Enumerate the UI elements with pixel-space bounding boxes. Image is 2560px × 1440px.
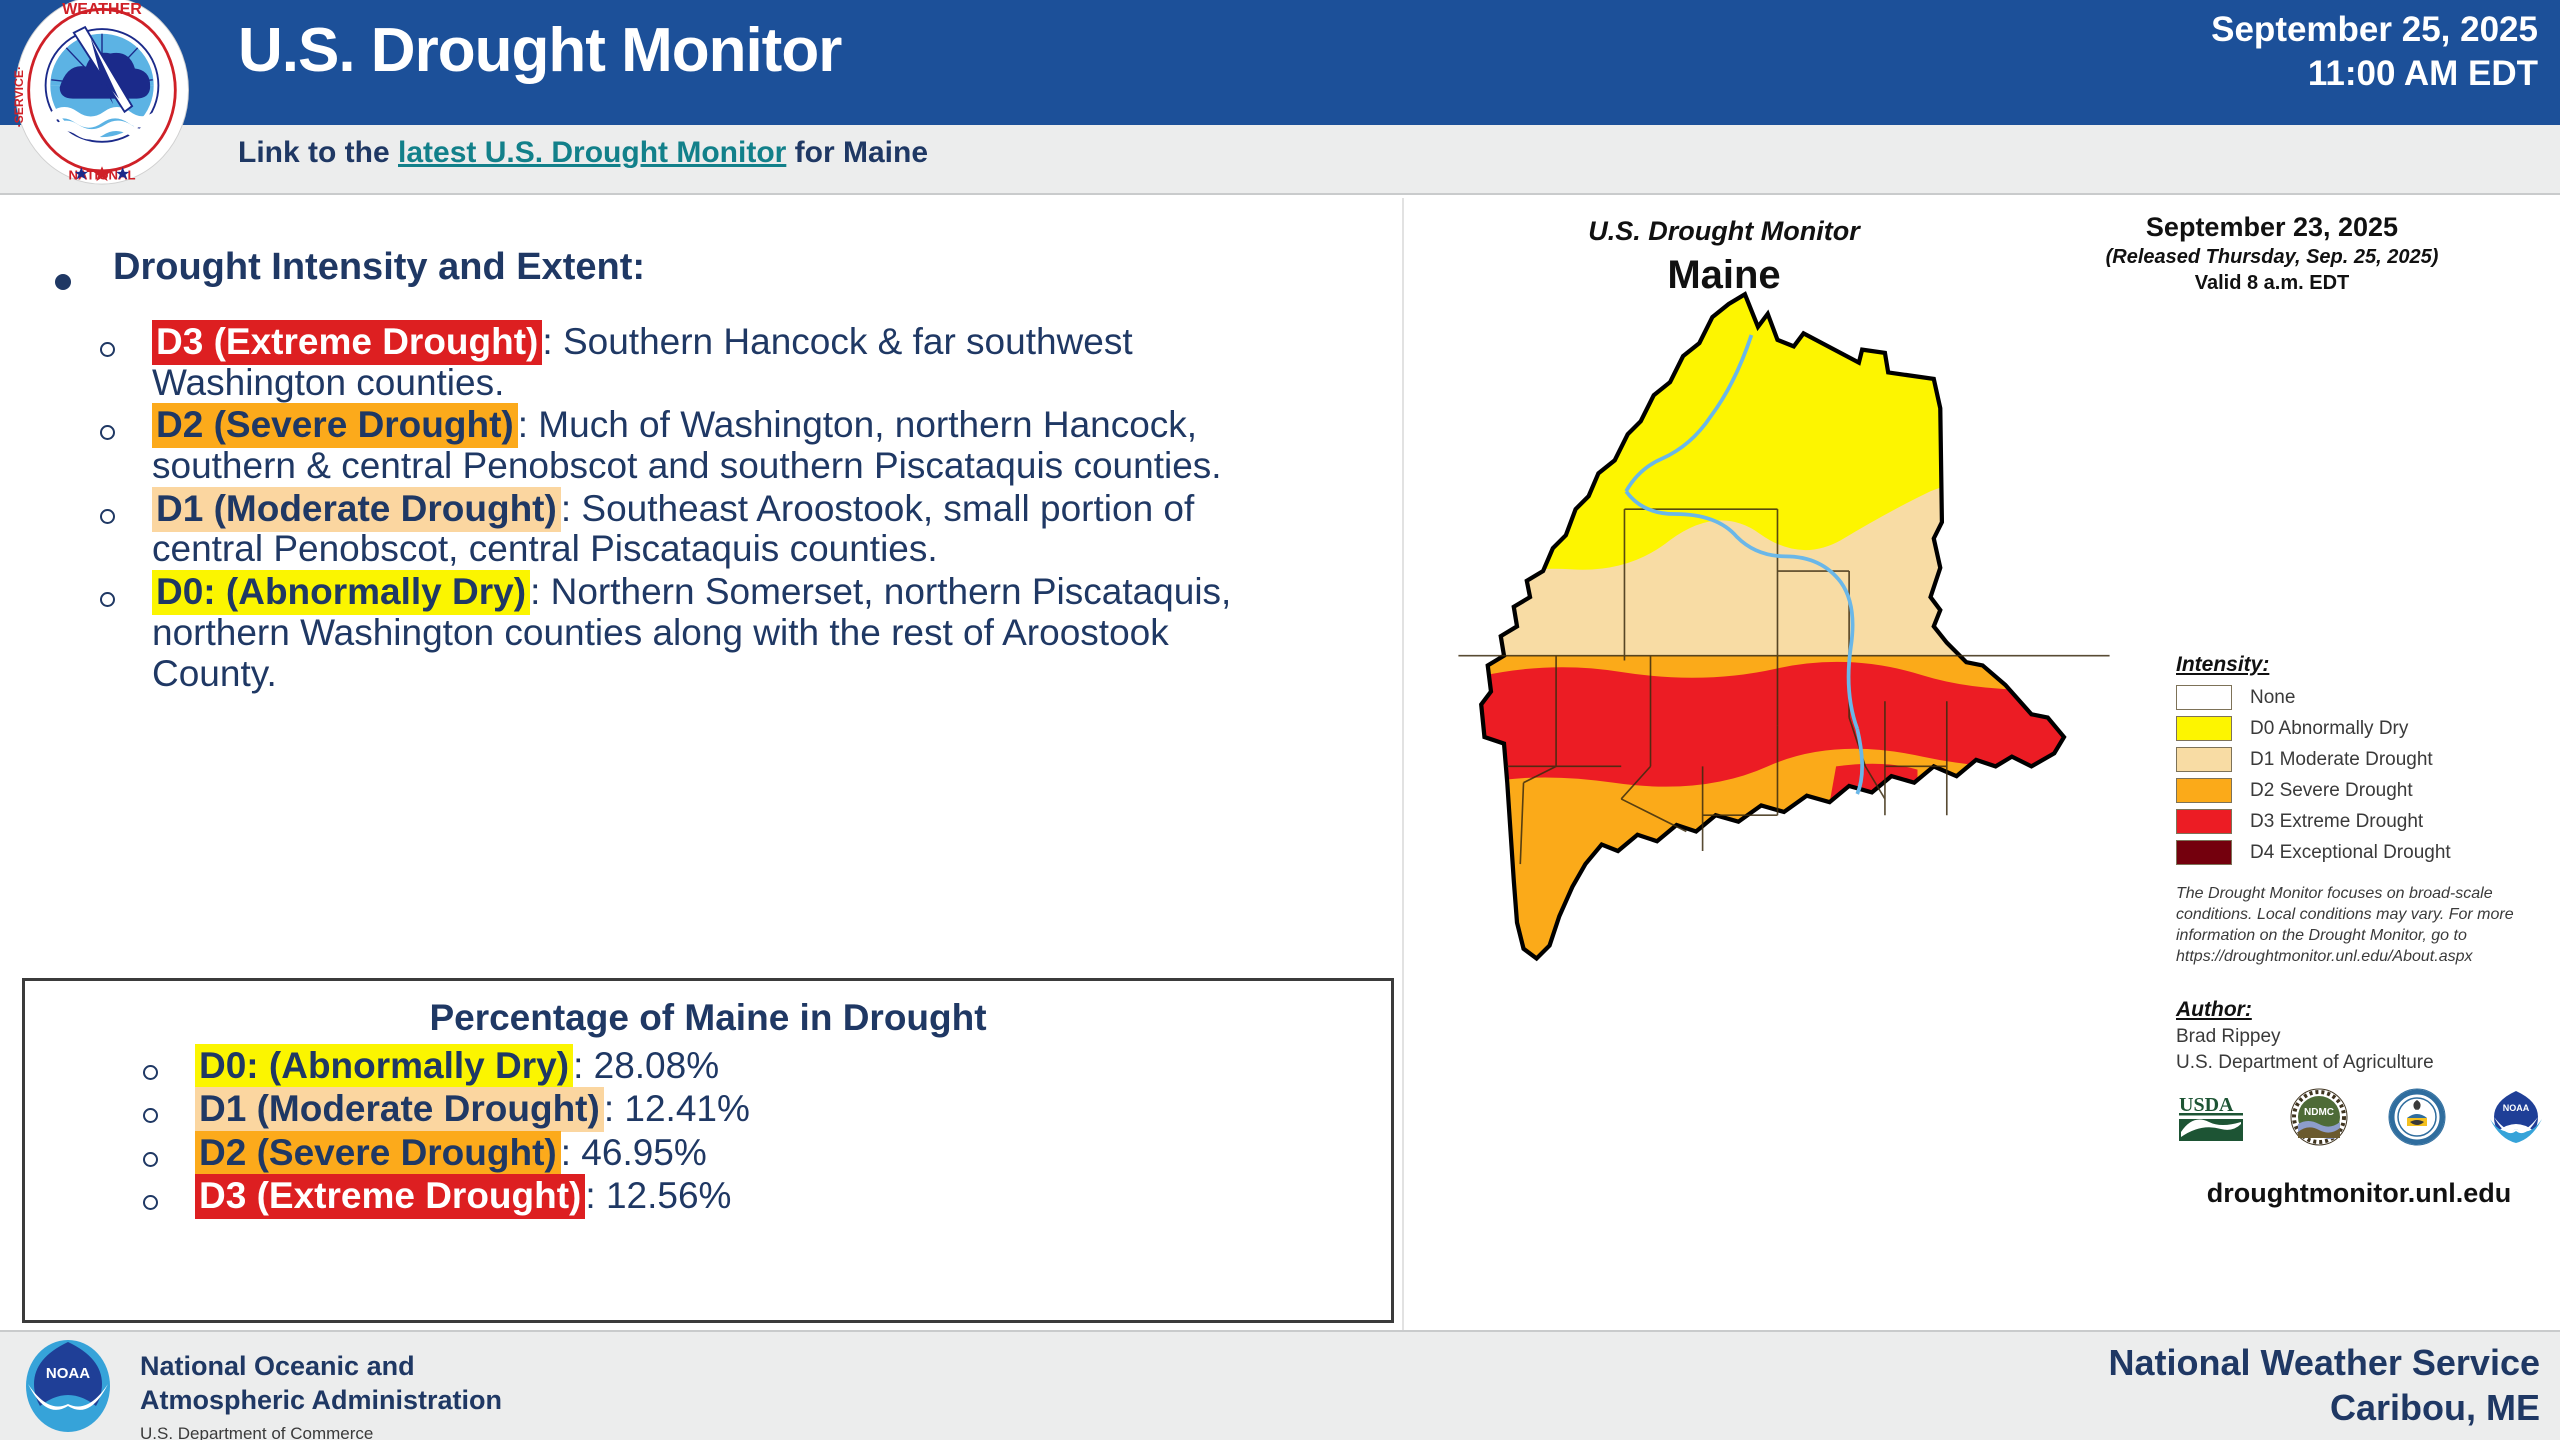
percentage-box: Percentage of Maine in Drought D0: (Abno… (22, 978, 1394, 1323)
section-heading-row: Drought Intensity and Extent: (55, 246, 1400, 296)
bullet-hollow-icon (143, 1108, 167, 1128)
legend-swatch-d2 (2176, 778, 2232, 803)
legend-item-none: None (2176, 685, 2536, 710)
link-prefix-text: Link to the (238, 136, 398, 169)
list-item-text: D3 (Extreme Drought): Southern Hancock &… (152, 322, 1282, 403)
list-item-text: D1 (Moderate Drought): Southeast Aroosto… (152, 489, 1282, 570)
legend-label-d2: D2 Severe Drought (2250, 780, 2413, 802)
svg-text:WEATHER: WEATHER (62, 1, 142, 18)
bullet-hollow-icon (143, 1065, 167, 1085)
map-kicker: U.S. Drought Monitor (1464, 216, 1984, 247)
percentage-list: D0: (Abnormally Dry): 28.08% D1 (Moderat… (143, 1045, 1391, 1217)
bullet-hollow-icon (143, 1195, 167, 1215)
noaa-line-2: Atmospheric Administration (140, 1384, 502, 1418)
author-organization: U.S. Department of Agriculture (2176, 1052, 2536, 1074)
drought-monitor-link-line: Link to the latest U.S. Drought Monitor … (238, 136, 928, 170)
office-line-1: National Weather Service (2108, 1340, 2540, 1385)
maine-drought-map (1424, 278, 2144, 978)
d0-badge: D0: (Abnormally Dry) (152, 570, 530, 615)
legend-label-d0: D0 Abnormally Dry (2250, 718, 2408, 740)
latest-drought-monitor-link[interactable]: latest U.S. Drought Monitor (398, 136, 786, 169)
section-title: Drought Intensity and Extent: (113, 246, 645, 289)
link-suffix-text: for Maine (786, 136, 928, 169)
d1-pct-badge: D1 (Moderate Drought) (195, 1087, 604, 1132)
bullet-hollow-icon (100, 592, 124, 612)
noaa-logo: NOAA (18, 1338, 118, 1434)
bullet-hollow-icon (100, 425, 124, 445)
svg-text:USDA: USDA (2179, 1094, 2234, 1116)
ndmc-logo: NDMC (2290, 1088, 2348, 1146)
map-valid-date: September 23, 2025 (2022, 212, 2522, 243)
bullet-hollow-icon (100, 509, 124, 529)
legend-swatch-d4 (2176, 840, 2232, 865)
nws-roundel-logo: WEATHER NATIONAL ·SERVICE· (8, 0, 196, 192)
percentage-row-text: D2 (Severe Drought): 46.95% (195, 1132, 707, 1173)
slide-page: U.S. Drought Monitor September 25, 2025 … (0, 0, 2560, 1440)
noaa-line-3: U.S. Department of Commerce (140, 1424, 502, 1440)
header-date: September 25, 2025 (2211, 8, 2538, 52)
d0-pct-value: : 28.08% (573, 1045, 719, 1086)
svg-text:·SERVICE·: ·SERVICE· (12, 66, 26, 128)
list-item: D1 (Moderate Drought): Southeast Aroosto… (100, 489, 1400, 570)
author-title: Author: (2176, 998, 2536, 1022)
d3-pct-value: : 12.56% (585, 1175, 731, 1216)
noaa-agency-text: National Oceanic and Atmospheric Adminis… (140, 1350, 502, 1440)
legend-label-d1: D1 Moderate Drought (2250, 749, 2433, 771)
percentage-row-text: D3 (Extreme Drought): 12.56% (195, 1175, 731, 1216)
d3-pct-badge: D3 (Extreme Drought) (195, 1174, 585, 1219)
table-row: D1 (Moderate Drought): 12.41% (143, 1088, 1391, 1129)
drought-monitor-url: droughtmonitor.unl.edu (2164, 1178, 2554, 1209)
drought-monitor-panel: U.S. Drought Monitor Maine September 23,… (1402, 198, 2560, 1330)
author-block: Author: Brad Rippey U.S. Department of A… (2176, 998, 2536, 1074)
table-row: D3 (Extreme Drought): 12.56% (143, 1175, 1391, 1216)
office-line-2: Caribou, ME (2108, 1385, 2540, 1430)
d3-badge: D3 (Extreme Drought) (152, 320, 542, 365)
legend-swatch-d0 (2176, 716, 2232, 741)
drought-items-list: D3 (Extreme Drought): Southern Hancock &… (100, 322, 1400, 694)
header-datetime: September 25, 2025 11:00 AM EDT (2211, 8, 2538, 96)
list-item: D2 (Severe Drought): Much of Washington,… (100, 405, 1400, 486)
d2-badge: D2 (Severe Drought) (152, 403, 518, 448)
table-row: D2 (Severe Drought): 46.95% (143, 1132, 1391, 1173)
header-time: 11:00 AM EDT (2211, 52, 2538, 96)
page-title: U.S. Drought Monitor (238, 20, 841, 82)
noaa-line-1: National Oceanic and (140, 1350, 502, 1384)
legend-swatch-d3 (2176, 809, 2232, 834)
legend-item-d4: D4 Exceptional Drought (2176, 840, 2536, 865)
legend-label-none: None (2250, 687, 2295, 709)
legend-swatch-d1 (2176, 747, 2232, 772)
list-item-text: D2 (Severe Drought): Much of Washington,… (152, 405, 1282, 486)
list-item: D0: (Abnormally Dry): Northern Somerset,… (100, 572, 1400, 694)
percentage-row-text: D1 (Moderate Drought): 12.41% (195, 1088, 750, 1129)
d2-pct-badge: D2 (Severe Drought) (195, 1131, 561, 1176)
legend-label-d4: D4 Exceptional Drought (2250, 842, 2451, 864)
table-row: D0: (Abnormally Dry): 28.08% (143, 1045, 1391, 1086)
footer-bar: NOAA National Oceanic and Atmospheric Ad… (0, 1330, 2560, 1440)
legend-title: Intensity: (2176, 653, 2536, 677)
legend-swatch-none (2176, 685, 2232, 710)
bullet-hollow-icon (100, 342, 124, 362)
usda-seal-logo (2388, 1088, 2446, 1146)
map-release-date: (Released Thursday, Sep. 25, 2025) (2022, 246, 2522, 269)
d0-pct-badge: D0: (Abnormally Dry) (195, 1044, 573, 1089)
intensity-legend: Intensity: None D0 Abnormally Dry D1 Mod… (2176, 653, 2536, 871)
noaa-logo: NOAA (2486, 1089, 2546, 1145)
agency-logos-row: USDA NDMC (2176, 1088, 2546, 1146)
list-item-text: D0: (Abnormally Dry): Northern Somerset,… (152, 572, 1282, 694)
legend-item-d1: D1 Moderate Drought (2176, 747, 2536, 772)
svg-text:NDMC: NDMC (2304, 1107, 2334, 1118)
map-disclaimer: The Drought Monitor focuses on broad-sca… (2176, 883, 2536, 967)
legend-item-d0: D0 Abnormally Dry (2176, 716, 2536, 741)
maine-map-svg (1424, 278, 2144, 978)
weather-office-text: National Weather Service Caribou, ME (2108, 1340, 2540, 1430)
percentage-row-text: D0: (Abnormally Dry): 28.08% (195, 1045, 719, 1086)
percentage-box-title: Percentage of Maine in Drought (25, 997, 1391, 1039)
bullet-filled-icon (55, 262, 81, 296)
legend-item-d3: D3 Extreme Drought (2176, 809, 2536, 834)
d1-badge: D1 (Moderate Drought) (152, 487, 561, 532)
svg-text:NOAA: NOAA (2503, 1103, 2530, 1113)
author-name: Brad Rippey (2176, 1026, 2536, 1048)
usda-logo: USDA (2176, 1089, 2250, 1145)
bullet-hollow-icon (143, 1152, 167, 1172)
legend-item-d2: D2 Severe Drought (2176, 778, 2536, 803)
d1-pct-value: : 12.41% (604, 1088, 750, 1129)
d2-pct-value: : 46.95% (561, 1132, 707, 1173)
list-item: D3 (Extreme Drought): Southern Hancock &… (100, 322, 1400, 403)
legend-label-d3: D3 Extreme Drought (2250, 811, 2423, 833)
svg-text:NOAA: NOAA (46, 1365, 90, 1382)
